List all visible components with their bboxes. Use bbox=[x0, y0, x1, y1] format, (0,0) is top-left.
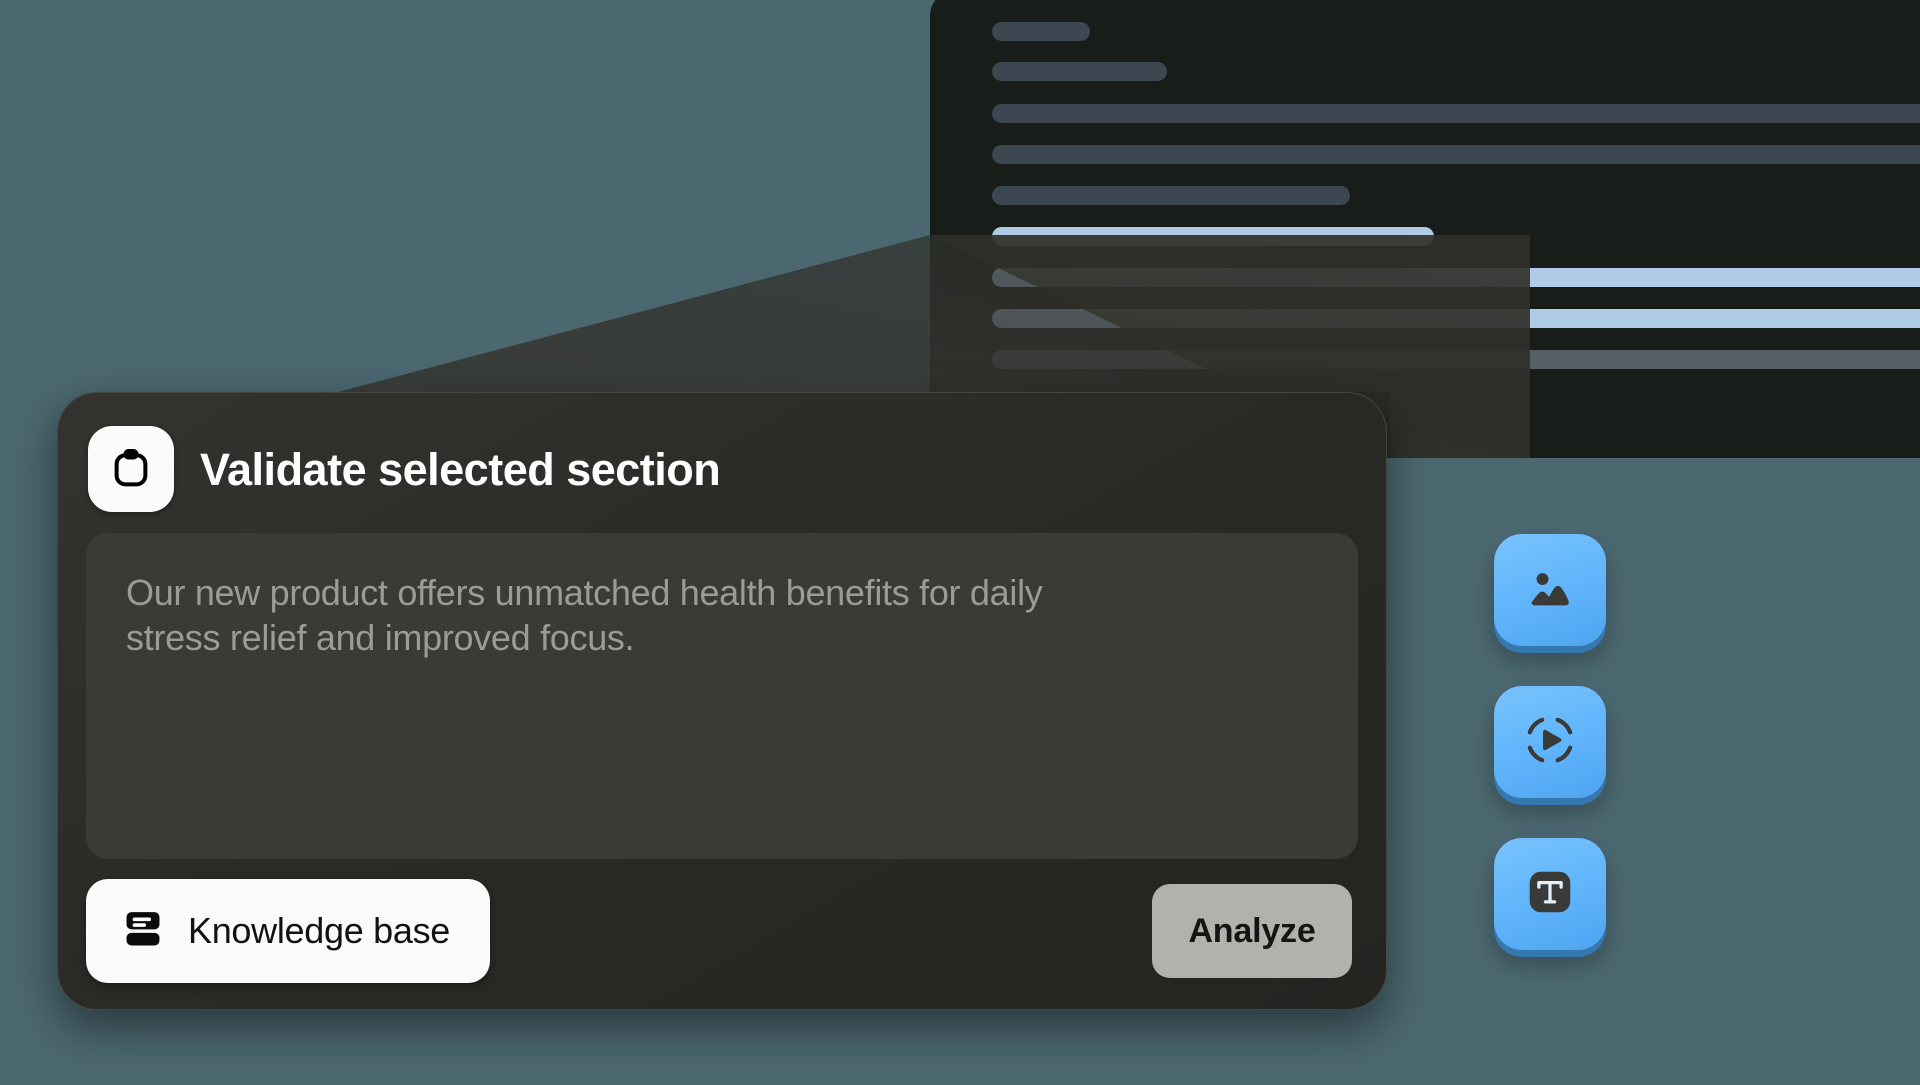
validate-dialog: Validate selected section Our new produc… bbox=[57, 392, 1387, 1010]
knowledge-base-label: Knowledge base bbox=[188, 910, 450, 952]
text-t-icon bbox=[1521, 863, 1579, 926]
tile-text-button[interactable] bbox=[1494, 838, 1606, 950]
document-line bbox=[992, 186, 1350, 205]
document-line bbox=[992, 309, 1920, 328]
knowledge-base-icon bbox=[120, 906, 166, 957]
screen-canvas: Validate selected section Our new produc… bbox=[0, 0, 1920, 1085]
document-line bbox=[992, 350, 1920, 369]
document-preview-panel[interactable] bbox=[930, 0, 1920, 458]
dialog-footer: Knowledge base Analyze bbox=[86, 879, 1358, 983]
document-line bbox=[992, 227, 1434, 246]
document-line bbox=[992, 62, 1167, 81]
content-text-value[interactable]: Our new product offers unmatched health … bbox=[126, 571, 1136, 660]
document-line bbox=[992, 104, 1920, 123]
document-line bbox=[992, 22, 1090, 41]
clipboard-icon bbox=[88, 426, 174, 512]
dialog-header: Validate selected section bbox=[86, 419, 1358, 519]
image-icon bbox=[1521, 559, 1579, 622]
video-play-icon bbox=[1521, 711, 1579, 774]
tile-image-button[interactable] bbox=[1494, 534, 1606, 646]
document-line bbox=[992, 268, 1920, 287]
analyze-button[interactable]: Analyze bbox=[1152, 884, 1352, 978]
tile-video-button[interactable] bbox=[1494, 686, 1606, 798]
content-textarea[interactable]: Our new product offers unmatched health … bbox=[86, 533, 1358, 859]
knowledge-base-button[interactable]: Knowledge base bbox=[86, 879, 490, 983]
document-line-list bbox=[992, 0, 1920, 458]
document-line bbox=[992, 145, 1920, 164]
page-title: Validate selected section bbox=[200, 447, 720, 492]
media-type-tiles bbox=[1494, 534, 1606, 950]
